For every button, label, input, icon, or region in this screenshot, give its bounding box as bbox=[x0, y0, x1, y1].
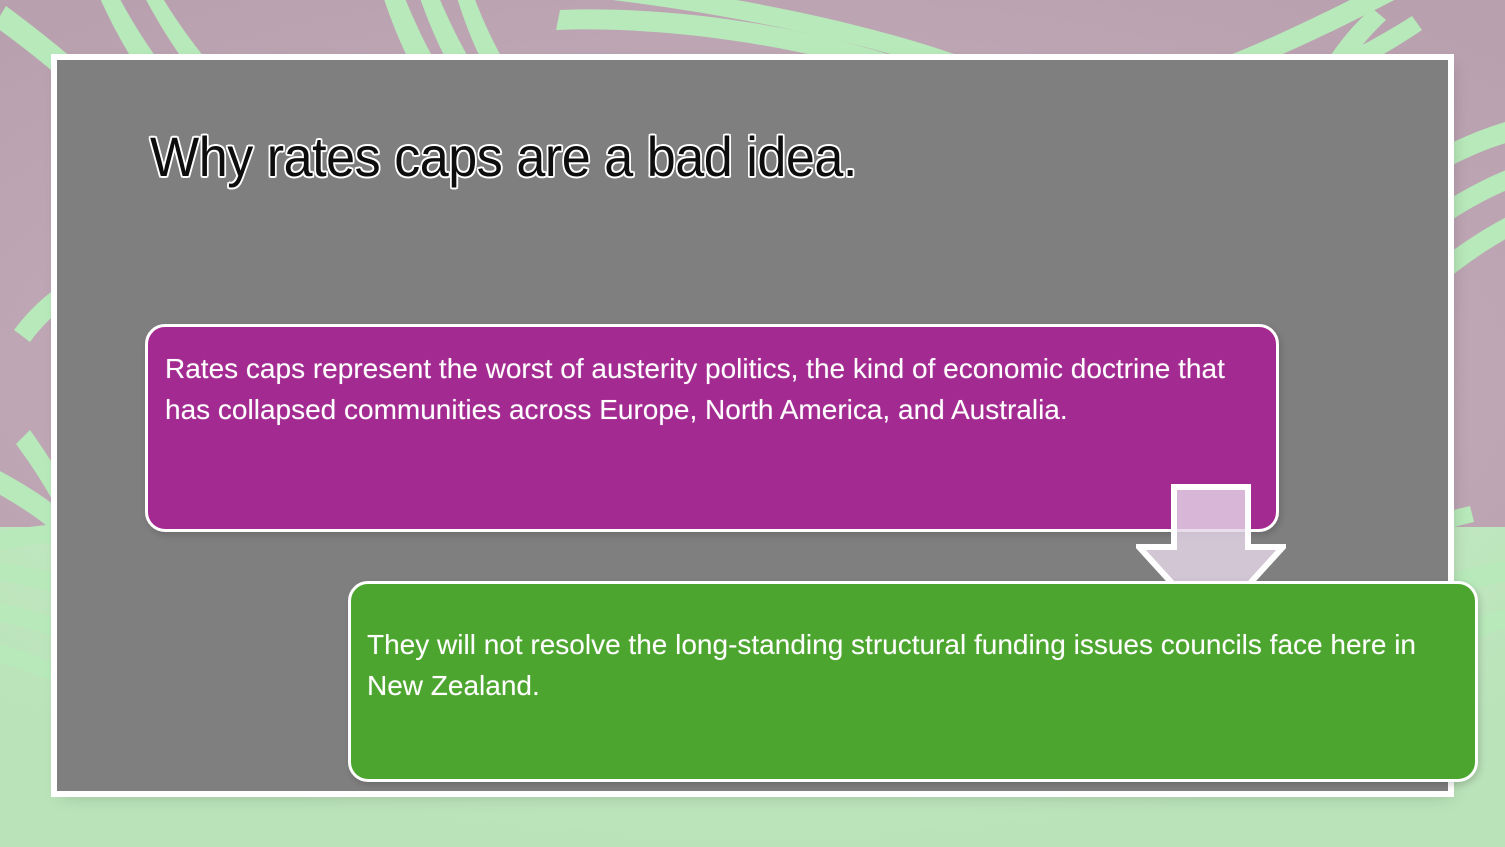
purple-callout-text: Rates caps represent the worst of auster… bbox=[165, 349, 1262, 431]
page-title: Why rates caps are a bad idea. bbox=[150, 128, 857, 187]
green-callout[interactable]: They will not resolve the long-standing … bbox=[348, 581, 1478, 782]
slide-card: Why rates caps are a bad idea. Rates cap… bbox=[57, 60, 1448, 791]
purple-callout[interactable]: Rates caps represent the worst of auster… bbox=[145, 324, 1279, 532]
slide-stage: Why rates caps are a bad idea. Rates cap… bbox=[0, 0, 1505, 847]
green-callout-text: They will not resolve the long-standing … bbox=[367, 625, 1461, 707]
